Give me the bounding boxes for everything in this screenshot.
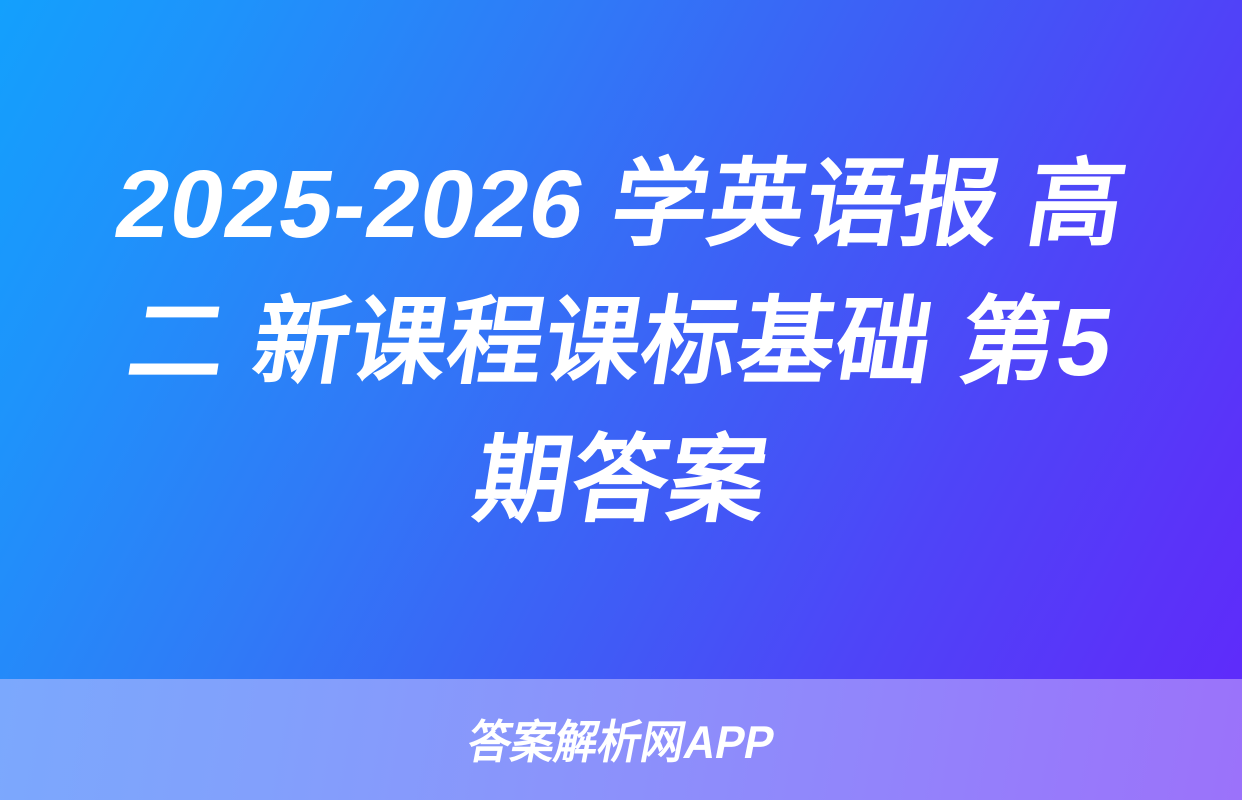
footer-band: 答案解析网APP	[0, 679, 1242, 800]
app-watermark: 答案解析网APP	[464, 719, 778, 765]
title-line-2: 二 新课程课标基础 第5	[0, 274, 1242, 412]
page-title: 2025-2026 学英语报 高 二 新课程课标基础 第5 期答案	[0, 0, 1242, 679]
promo-banner: 2025-2026 学英语报 高 二 新课程课标基础 第5 期答案 答案解析网A…	[0, 0, 1242, 800]
title-line-3: 期答案	[0, 412, 1242, 550]
title-line-1: 2025-2026 学英语报 高	[0, 136, 1242, 274]
